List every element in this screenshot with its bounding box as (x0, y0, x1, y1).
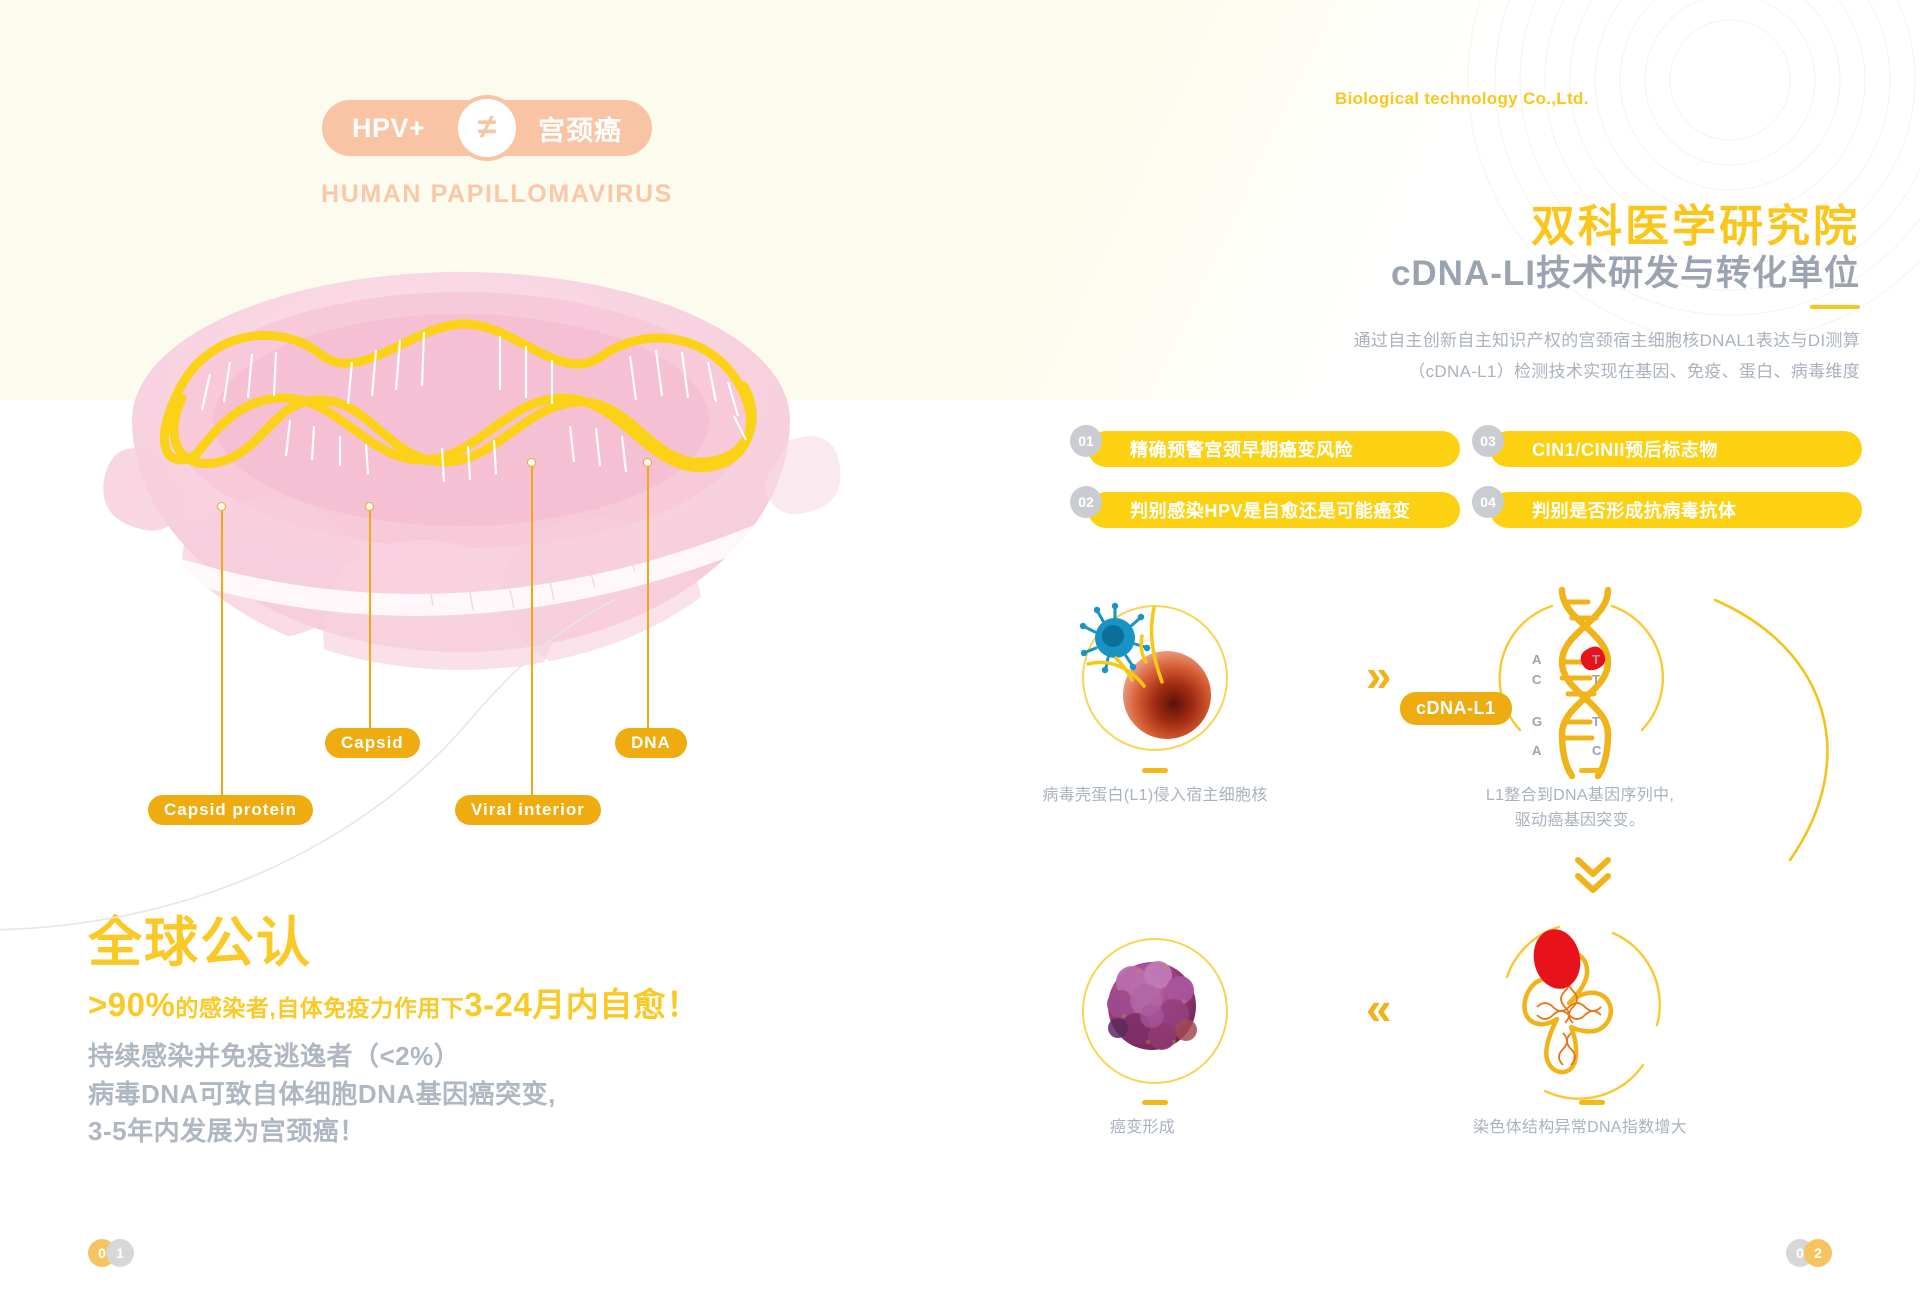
feature-item-01[interactable]: 精确预警宫颈早期癌变风险 01 (1070, 431, 1460, 467)
stat-percent: >90% (88, 986, 175, 1023)
arrow-left-icon: « (1366, 985, 1392, 1031)
feature-item-02[interactable]: 判别感染HPV是自愈还是可能癌变 02 (1070, 492, 1460, 528)
grey-line-1: 持续感染并免疫逃逸者（<2%） (88, 1038, 556, 1076)
grey-description-block: 持续感染并免疫逃逸者（<2%） 病毒DNA可致自体细胞DNA基因癌突变, 3-5… (88, 1038, 556, 1151)
left-panel: HPV+ 宫颈癌 ≠ HUMAN PAPILLOMAVIRUS (0, 0, 960, 1303)
leader-line-capsid-protein (221, 510, 223, 800)
tag-dna: DNA (615, 728, 687, 758)
feature-number-02: 02 (1070, 486, 1102, 518)
step1-virus-cell-illustration (1070, 590, 1250, 770)
feature-label-01: 精确预警宫颈早期癌变风险 (1130, 436, 1353, 462)
page-number-left: 0 1 (88, 1239, 134, 1267)
institute-description: 通过自主创新自主知识产权的宫颈宿主细胞核DNAL1表达与DI测算 （cDNA-L… (1260, 325, 1860, 388)
hpv-badge: HPV+ 宫颈癌 ≠ (322, 100, 652, 156)
institute-subtitle: cDNA-LI技术研发与转化单位 (1391, 245, 1860, 296)
grey-line-3: 3-5年内发展为宫颈癌！ (88, 1113, 556, 1151)
hpv-badge-left-text: HPV+ (352, 113, 425, 144)
step3-caption: 染色体结构异常DNA指数增大 (1430, 1116, 1730, 1141)
step3-caption-rule (1579, 1100, 1605, 1105)
leader-dot-capsid (365, 502, 374, 511)
decorative-curve (0, 600, 960, 940)
step4-caption-rule (1142, 1100, 1168, 1105)
leader-line-dna (647, 466, 649, 733)
leader-line-viral-interior (531, 466, 533, 800)
feature-bar-01: 精确预警宫颈早期癌变风险 (1088, 431, 1460, 467)
infographic-page: HPV+ 宫颈癌 ≠ HUMAN PAPILLOMAVIRUS (0, 0, 1920, 1303)
tag-capsid-protein: Capsid protein (148, 795, 313, 825)
leader-line-capsid (369, 510, 371, 733)
feature-bar-03: CIN1/CINII预后标志物 (1490, 431, 1862, 467)
feature-bar-04: 判别是否形成抗病毒抗体 (1490, 492, 1862, 528)
right-panel: Biological technology Co.,Ltd. 双科医学研究院 c… (960, 0, 1920, 1303)
not-equal-icon: ≠ (454, 95, 520, 161)
stat-middle: 的感染者,自体免疫力作用下 (175, 995, 464, 1021)
process-diagram: 病毒壳蛋白(L1)侵入宿主细胞核 » (960, 560, 1920, 1210)
stat-line: >90%的感染者,自体免疫力作用下3-24月内自愈！ (88, 978, 700, 1026)
leader-dot-viral-interior (527, 458, 536, 467)
grey-line-2: 病毒DNA可致自体细胞DNA基因癌突变, (88, 1076, 556, 1114)
feature-number-01: 01 (1070, 425, 1102, 457)
step3-chromosome-illustration (1485, 915, 1685, 1115)
feature-number-03: 03 (1472, 425, 1504, 457)
step1-caption-rule (1142, 768, 1168, 773)
institute-description-line-1: 通过自主创新自主知识产权的宫颈宿主细胞核DNAL1表达与DI测算 (1260, 325, 1860, 356)
tag-viral-interior: Viral interior (455, 795, 601, 825)
tag-capsid: Capsid (325, 728, 420, 758)
not-equal-glyph: ≠ (478, 110, 497, 144)
cdna-l1-badge: cDNA-L1 (1400, 692, 1512, 725)
feature-label-04: 判别是否形成抗病毒抗体 (1532, 497, 1737, 523)
institute-description-line-2: （cDNA-L1）检测技术实现在基因、免疫、蛋白、病毒维度 (1260, 356, 1860, 387)
step1-caption: 病毒壳蛋白(L1)侵入宿主细胞核 (980, 784, 1330, 809)
step4-tumour-illustration (1088, 942, 1228, 1082)
hpv-badge-right-text: 宫颈癌 (538, 109, 622, 148)
feature-label-03: CIN1/CINII预后标志物 (1532, 436, 1718, 462)
step4-caption: 癌变形成 (980, 1116, 1305, 1141)
feature-item-03[interactable]: CIN1/CINII预后标志物 03 (1472, 431, 1862, 467)
leader-dot-capsid-protein (217, 502, 226, 511)
stat-highlight: 3-24月内自愈！ (464, 986, 700, 1023)
hpv-subtitle: HUMAN PAPILLOMAVIRUS (307, 180, 687, 209)
feature-label-02: 判别感染HPV是自愈还是可能癌变 (1130, 497, 1411, 523)
page-number-right-digit-2: 2 (1804, 1239, 1832, 1267)
company-name: Biological technology Co.,Ltd. (1335, 89, 1589, 109)
page-number-right: 0 2 (1786, 1239, 1832, 1267)
page-number-left-digit-2: 1 (106, 1239, 134, 1267)
leader-dot-dna (643, 458, 652, 467)
title-underline-rule (1810, 305, 1860, 309)
feature-item-04[interactable]: 判别是否形成抗病毒抗体 04 (1472, 492, 1862, 528)
feature-bar-02: 判别感染HPV是自愈还是可能癌变 (1088, 492, 1460, 528)
feature-number-04: 04 (1472, 486, 1504, 518)
